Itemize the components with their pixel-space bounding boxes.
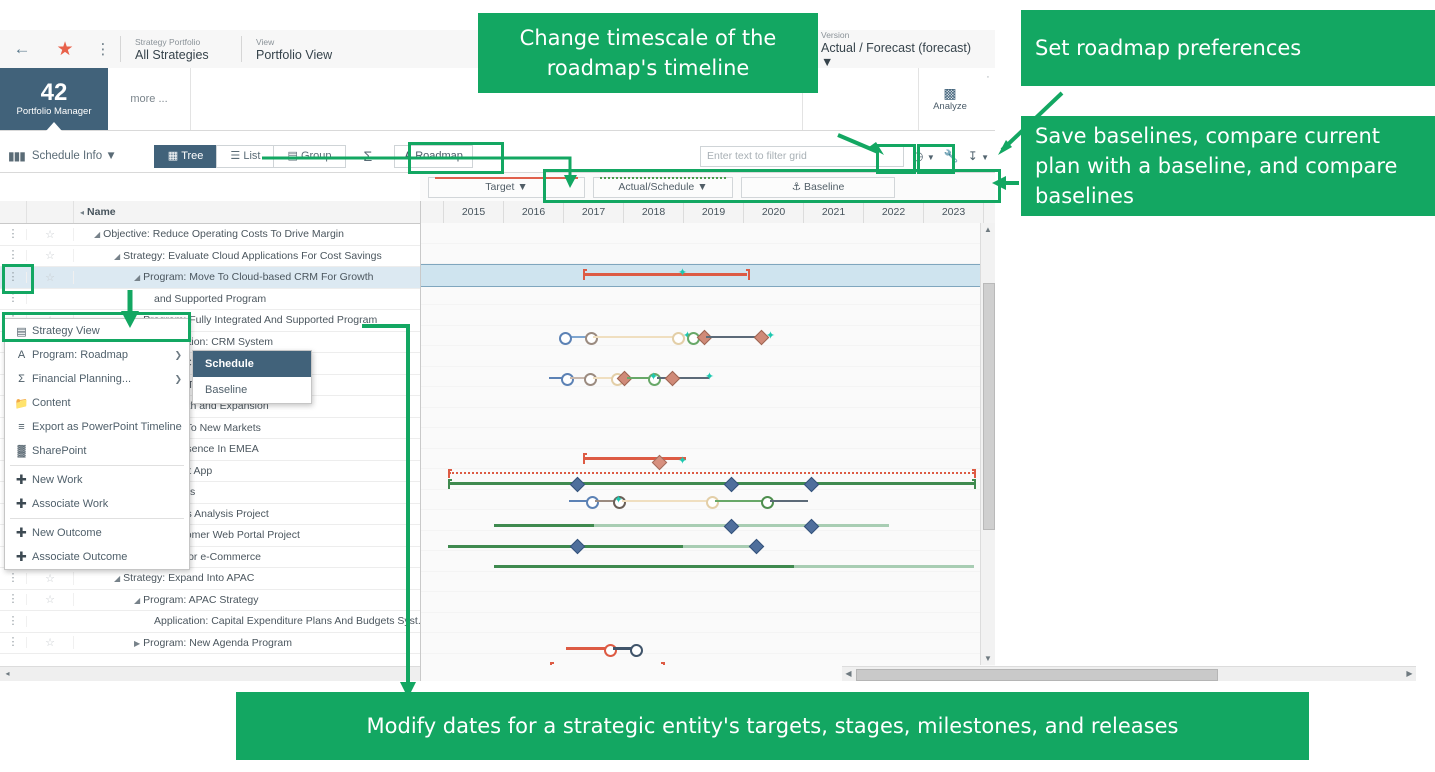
timeline-year-header: 2021 — [804, 201, 864, 223]
target-legend-label: Target ▼ — [485, 181, 528, 193]
timeline-canvas[interactable]: ✦ ✦ ✦ ✦ ✦ — [421, 223, 980, 665]
callout-baselines: Save baselines, compare current plan wit… — [1021, 116, 1435, 216]
row-kebab-menu-icon[interactable]: ⋮ — [0, 637, 27, 648]
plus-icon: ✚ — [11, 472, 32, 488]
grid-header-row: ◂Name — [0, 201, 420, 224]
menu-item-new-work[interactable]: ✚New Work — [5, 468, 189, 492]
stage-marker[interactable] — [586, 496, 599, 509]
view-value: Portfolio View — [256, 48, 348, 62]
expand-collapse-icon[interactable]: ◢ — [94, 230, 100, 239]
tab-list[interactable]: ☰ List — [216, 145, 273, 168]
vertical-scroll-thumb[interactable] — [983, 283, 995, 530]
menu-item-new-outcome[interactable]: ✚New Outcome — [5, 521, 189, 545]
milestone-diamond[interactable] — [724, 518, 740, 534]
target-bracket-end — [972, 469, 976, 478]
version-value: Actual / Forecast (forecast) ▼ — [821, 41, 981, 69]
table-row[interactable]: ⋮☆◢Program: Move To Cloud-based CRM For … — [0, 267, 420, 289]
expand-collapse-icon[interactable]: ◢ — [134, 273, 140, 282]
menu-item-label: Program: Roadmap — [32, 349, 128, 361]
schedule-bar[interactable] — [448, 545, 683, 548]
column-header-name[interactable]: ◂Name — [74, 206, 420, 218]
list-icon: ☰ — [230, 150, 240, 162]
row-name-label: Program: Move To Cloud-based CRM For Gro… — [143, 271, 373, 283]
milestone-diamond[interactable] — [804, 518, 820, 534]
timeline-year-header: 2016 — [504, 201, 564, 223]
row-name-label: and Supported Program — [154, 293, 266, 305]
tile-count: 42 — [41, 80, 68, 105]
milestone-diamond[interactable] — [570, 539, 586, 555]
scroll-left-arrow-icon[interactable]: ◀ — [842, 667, 855, 681]
timeline-year-header: 2017 — [564, 201, 624, 223]
scroll-right-arrow-icon[interactable]: ▶ — [1403, 667, 1416, 681]
milestone-diamond[interactable] — [749, 539, 765, 555]
menu-item-financial-planning[interactable]: ΣFinancial Planning...❯ — [5, 367, 189, 391]
group-icon: ▤ — [287, 150, 297, 162]
sort-ascending-icon: ◂ — [80, 208, 84, 217]
row-name-cell: ▶Program: New Agenda Program — [74, 637, 420, 649]
view-label: View — [256, 37, 348, 48]
milestone-diamond[interactable] — [724, 476, 740, 492]
menu-item-label: Associate Work — [32, 498, 108, 510]
menu-item-label: Financial Planning... — [32, 373, 131, 385]
timeline-year-header: 2019 — [684, 201, 744, 223]
row-name-label: Application: Capital Expenditure Plans A… — [154, 615, 420, 627]
callout-preferences: Set roadmap preferences — [1021, 10, 1435, 86]
portfolio-manager-tile[interactable]: 42 Portfolio Manager — [0, 68, 108, 130]
tab-group[interactable]: ▤ Group — [273, 145, 345, 168]
release-star-icon[interactable]: ✦ — [677, 268, 688, 279]
collapse-panel-button[interactable]: · — [981, 68, 995, 130]
schedule-bar-forecast[interactable] — [794, 565, 974, 568]
plus-icon: ✚ — [11, 549, 32, 565]
plus-icon: ✚ — [11, 525, 32, 541]
scroll-left-arrow-icon[interactable]: ◂ — [1, 667, 14, 681]
row-name-label: Strategy: Evaluate Cloud Applications Fo… — [123, 250, 382, 262]
row-context-menu: ▤Strategy ViewAProgram: Roadmap❯ΣFinanci… — [4, 318, 190, 570]
row-kebab-menu-icon[interactable]: ⋮ — [0, 616, 27, 627]
strategy-portfolio-value: All Strategies — [135, 48, 227, 62]
target-bar[interactable] — [584, 457, 686, 460]
kebab-menu-icon[interactable]: ⋮ — [86, 40, 120, 58]
menu-divider — [10, 465, 184, 466]
row-name-label: Objective: Reduce Operating Costs To Dri… — [103, 228, 344, 240]
target-bar-dotted[interactable] — [449, 472, 974, 474]
stage-marker[interactable] — [559, 332, 572, 345]
menu-item-label: Associate Outcome — [32, 551, 127, 563]
target-bar[interactable] — [584, 273, 747, 276]
tile-caption: Portfolio Manager — [17, 105, 92, 118]
milestone-diamond[interactable] — [804, 476, 820, 492]
analyze-label: Analyze — [933, 101, 967, 112]
target-bracket-start — [583, 269, 587, 280]
target-bracket-start — [583, 453, 587, 464]
target-bracket-start — [550, 662, 554, 665]
menu-item-program-roadmap[interactable]: AProgram: Roadmap❯ — [5, 343, 189, 367]
favorite-star-icon[interactable]: ☆ — [27, 572, 74, 585]
schedule-info-dropdown[interactable]: Schedule Info ▼ — [32, 150, 117, 162]
timeline-year-header: 2015 — [444, 201, 504, 223]
row-kebab-menu-icon[interactable]: ⋮ — [0, 293, 27, 304]
callout-dates-text: Modify dates for a strategic entity's ta… — [353, 701, 1193, 751]
grid-header-star-col — [27, 201, 74, 223]
table-row[interactable]: ⋮☆◢Objective: Reduce Operating Costs To … — [0, 224, 420, 246]
tree-icon: ▦ — [168, 150, 178, 162]
stage-marker[interactable] — [630, 644, 643, 657]
download-button[interactable]: ↧ ▼ — [968, 149, 989, 163]
stage-bar[interactable] — [622, 500, 710, 502]
expand-collapse-icon[interactable]: ▶ — [134, 639, 140, 648]
favorite-star-icon[interactable]: ☆ — [27, 228, 74, 241]
roadmap-icon: A — [11, 349, 32, 361]
timeline-year-header: 2018 — [624, 201, 684, 223]
timeline-year-header: 2020 — [744, 201, 804, 223]
timeline-vertical-scrollbar[interactable]: ▲ ▼ — [980, 223, 995, 665]
schedule-bar-forecast[interactable] — [683, 545, 751, 548]
schedule-bar[interactable] — [449, 482, 974, 485]
menu-item-sharepoint[interactable]: ▓SharePoint — [5, 439, 189, 463]
roadmap-submenu: Schedule Baseline — [192, 350, 312, 404]
favorite-star-icon[interactable]: ☆ — [27, 636, 74, 649]
menu-item-label: Export as PowerPoint Timeline — [32, 421, 182, 433]
stage-marker[interactable] — [584, 373, 597, 386]
row-name-cell: ◢Objective: Reduce Operating Costs To Dr… — [74, 228, 420, 240]
application-window: ← ★ ⋮ Strategy Portfolio All Strategies … — [0, 30, 995, 670]
table-row[interactable]: ⋮☆▶Program: New Agenda Program — [0, 633, 420, 655]
grid-header-actions-col — [0, 201, 27, 223]
submenu-arrow-icon: ❯ — [174, 374, 182, 385]
row-kebab-menu-icon[interactable]: ⋮ — [0, 229, 27, 240]
row-name-cell: ◢Program: Move To Cloud-based CRM For Gr… — [74, 271, 420, 283]
schedule-bar-forecast[interactable] — [594, 524, 889, 527]
row-name-cell: and Supported Program — [74, 293, 420, 305]
columns-icon: ▮▮▮ — [8, 149, 25, 163]
row-kebab-menu-icon[interactable]: ⋮ — [0, 573, 27, 584]
favorite-star-icon[interactable]: ☆ — [27, 593, 74, 606]
release-star-icon[interactable]: ✦ — [677, 456, 688, 467]
tab-list-label: List — [243, 150, 260, 162]
sigma-icon: Σ — [11, 373, 32, 385]
menu-item-label: SharePoint — [32, 445, 86, 457]
favorite-star-icon[interactable]: ☆ — [27, 271, 74, 284]
highlight-program-roadmap-item — [2, 312, 191, 342]
timeline-header: 201520162017201820192020202120222023 — [421, 201, 995, 224]
callout-dates: Modify dates for a strategic entity's ta… — [236, 692, 1309, 760]
highlight-roadmap-button — [408, 142, 504, 174]
stage-marker[interactable] — [761, 496, 774, 509]
version-panel — [802, 68, 919, 130]
row-name-cell: Application: Capital Expenditure Plans A… — [74, 615, 420, 627]
folder-icon: 📁 — [11, 397, 32, 410]
plus-icon: ✚ — [11, 496, 32, 512]
row-kebab-menu-icon[interactable]: ⋮ — [0, 250, 27, 261]
stage-bar[interactable] — [770, 500, 808, 502]
target-bracket-end — [746, 269, 750, 280]
menu-item-label: Content — [32, 397, 71, 409]
timeline-header-pad — [421, 201, 444, 223]
version-label: Version — [821, 30, 981, 41]
strategy-portfolio-label: Strategy Portfolio — [135, 37, 227, 48]
submenu-arrow-icon: ❯ — [174, 350, 182, 361]
expand-collapse-icon[interactable]: ◢ — [114, 574, 120, 583]
column-header-name-label: Name — [87, 206, 116, 218]
tab-tree[interactable]: ▦ Tree — [154, 145, 217, 168]
menu-item-content[interactable]: 📁Content — [5, 391, 189, 415]
callout-preferences-text: Set roadmap preferences — [1021, 23, 1315, 73]
schedule-bar[interactable] — [494, 565, 794, 568]
grid-horizontal-scrollbar[interactable]: ◂ — [0, 666, 420, 681]
timeline-year-cells: 201520162017201820192020202120222023 — [444, 201, 984, 223]
chevron-down-icon: ▼ — [981, 153, 989, 162]
strategy-portfolio-field[interactable]: Strategy Portfolio All Strategies — [121, 37, 241, 62]
submenu-item-baseline[interactable]: Baseline — [193, 377, 311, 403]
table-row[interactable]: ⋮☆◢Program: APAC Strategy — [0, 590, 420, 612]
highlight-legend-bar — [543, 169, 1001, 203]
bar-chart-icon: ▩ — [943, 86, 956, 101]
row-name-label: Program: New Agenda Program — [143, 637, 292, 649]
row-name-label: Program: APAC Strategy — [143, 594, 258, 606]
sigma-totals-button[interactable]: Σ — [364, 148, 373, 164]
scroll-down-arrow-icon[interactable]: ▼ — [981, 652, 995, 665]
stage-marker[interactable] — [706, 496, 719, 509]
view-mode-segment: ▦ Tree ☰ List ▤ Group — [154, 145, 346, 168]
favorite-star-icon[interactable]: ☆ — [27, 249, 74, 262]
scroll-up-arrow-icon[interactable]: ▲ — [981, 223, 995, 236]
milestone-diamond[interactable] — [570, 476, 586, 492]
roadmap-timeline: 201520162017201820192020202120222023 ✦ ✦… — [421, 201, 995, 681]
schedule-bracket-start — [448, 479, 452, 489]
release-star-icon[interactable]: ✦ — [765, 331, 776, 342]
menu-item-associate-outcome[interactable]: ✚Associate Outcome — [5, 545, 189, 569]
table-row[interactable]: ⋮and Supported Program — [0, 289, 420, 311]
stage-marker[interactable] — [561, 373, 574, 386]
menu-item-associate-work[interactable]: ✚Associate Work — [5, 492, 189, 516]
search-input[interactable]: Enter text to filter grid — [700, 146, 904, 167]
horizontal-scroll-thumb[interactable] — [856, 669, 1218, 681]
tab-tree-label: Tree — [181, 150, 203, 162]
context-menu-items: ▤Strategy ViewAProgram: Roadmap❯ΣFinanci… — [5, 319, 189, 569]
row-name-label: Strategy: Expand Into APAC — [123, 572, 254, 584]
row-name-cell: ◢Strategy: Expand Into APAC — [74, 572, 420, 584]
export-icon: ≡ — [11, 421, 32, 433]
timeline-year-header: 2023 — [924, 201, 984, 223]
sharepoint-icon: ▓ — [11, 445, 32, 457]
row-name-cell: ◢Program: APAC Strategy — [74, 594, 420, 606]
callout-timescale-text: Change timescale of the roadmap's timeli… — [478, 13, 818, 93]
tab-group-label: Group — [301, 150, 332, 162]
table-row[interactable]: ⋮☆◢Strategy: Expand Into APAC — [0, 568, 420, 590]
stage-marker[interactable] — [604, 644, 617, 657]
row-name-cell: ◢Strategy: Evaluate Cloud Applications F… — [74, 250, 420, 262]
stage-bar[interactable] — [593, 336, 677, 338]
back-arrow-icon[interactable]: ← — [0, 39, 44, 59]
stage-marker[interactable] — [585, 332, 598, 345]
milestone-diamond[interactable] — [665, 370, 681, 386]
more-tiles-button[interactable]: more ... — [108, 68, 191, 130]
schedule-bracket-end — [972, 479, 976, 489]
release-star-icon[interactable]: ✦ — [704, 372, 715, 383]
submenu-item-schedule[interactable]: Schedule — [193, 351, 311, 377]
expand-collapse-icon[interactable]: ◢ — [114, 252, 120, 261]
callout-timescale: Change timescale of the roadmap's timeli… — [478, 13, 818, 93]
stage-bar[interactable] — [715, 500, 765, 502]
table-row[interactable]: ⋮Application: Capital Expenditure Plans … — [0, 611, 420, 633]
menu-item-label: New Outcome — [32, 527, 102, 539]
callout-baselines-text: Save baselines, compare current plan wit… — [1021, 111, 1435, 221]
highlight-row-kebab — [2, 264, 34, 294]
menu-item-label: New Work — [32, 474, 83, 486]
star-icon[interactable]: ★ — [44, 38, 86, 61]
schedule-bar[interactable] — [494, 524, 594, 527]
expand-collapse-icon[interactable]: ◢ — [134, 596, 140, 605]
timeline-horizontal-scrollbar[interactable]: ◀ ▶ — [842, 666, 1416, 681]
version-field[interactable]: Version Actual / Forecast (forecast) ▼ — [807, 30, 995, 69]
target-bracket-start — [448, 469, 452, 478]
view-field[interactable]: View Portfolio View — [242, 37, 362, 62]
table-row[interactable]: ⋮☆◢Strategy: Evaluate Cloud Applications… — [0, 246, 420, 268]
analyze-button[interactable]: ▩ Analyze — [919, 68, 981, 130]
timeline-year-header: 2022 — [864, 201, 924, 223]
target-bracket-end — [661, 662, 665, 665]
menu-divider — [10, 518, 184, 519]
menu-item-export-as-powerpoint-timeline[interactable]: ≡Export as PowerPoint Timeline — [5, 415, 189, 439]
row-kebab-menu-icon[interactable]: ⋮ — [0, 594, 27, 605]
